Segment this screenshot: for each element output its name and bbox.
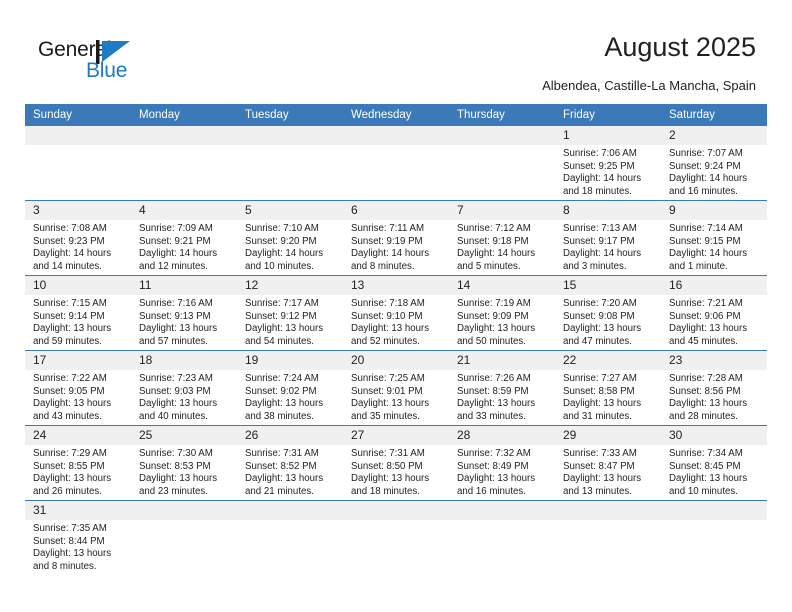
day-number-empty xyxy=(131,501,237,520)
day-number-empty xyxy=(449,126,555,145)
daylight-text: Daylight: 13 hours xyxy=(245,323,337,336)
day-cell[interactable]: Sunrise: 7:15 AMSunset: 9:14 PMDaylight:… xyxy=(25,295,131,350)
day-cell[interactable]: Sunrise: 7:09 AMSunset: 9:21 PMDaylight:… xyxy=(131,220,237,275)
weekday-header-friday: Friday xyxy=(555,104,661,126)
day-cell[interactable]: Sunrise: 7:24 AMSunset: 9:02 PMDaylight:… xyxy=(237,370,343,425)
daylight-text-cont: and 59 minutes. xyxy=(33,336,125,349)
day-cell-empty xyxy=(555,520,661,592)
calendar-week-row: 3456789Sunrise: 7:08 AMSunset: 9:23 PMDa… xyxy=(25,200,767,275)
day-number[interactable]: 31 xyxy=(25,501,131,520)
day-cell[interactable]: Sunrise: 7:06 AMSunset: 9:25 PMDaylight:… xyxy=(555,145,661,200)
day-number[interactable]: 6 xyxy=(343,201,449,220)
weekday-header-row: Sunday Monday Tuesday Wednesday Thursday… xyxy=(25,104,767,126)
sunrise-text: Sunrise: 7:21 AM xyxy=(669,298,761,311)
sunrise-text: Sunrise: 7:31 AM xyxy=(351,448,443,461)
day-cell-empty xyxy=(449,520,555,592)
week-detail-band: Sunrise: 7:29 AMSunset: 8:55 PMDaylight:… xyxy=(25,445,767,500)
sunset-text: Sunset: 8:59 PM xyxy=(457,386,549,399)
sunset-text: Sunset: 9:10 PM xyxy=(351,311,443,324)
day-number[interactable]: 13 xyxy=(343,276,449,295)
day-number[interactable]: 20 xyxy=(343,351,449,370)
sunset-text: Sunset: 9:17 PM xyxy=(563,236,655,249)
day-cell[interactable]: Sunrise: 7:34 AMSunset: 8:45 PMDaylight:… xyxy=(661,445,767,500)
sunset-text: Sunset: 8:55 PM xyxy=(33,461,125,474)
daylight-text: Daylight: 14 hours xyxy=(245,248,337,261)
day-cell-empty xyxy=(237,145,343,200)
sunrise-text: Sunrise: 7:24 AM xyxy=(245,373,337,386)
week-daynumber-band: 31 xyxy=(25,501,767,520)
weekday-header-tuesday: Tuesday xyxy=(237,104,343,126)
daylight-text-cont: and 8 minutes. xyxy=(33,561,125,574)
sunset-text: Sunset: 8:50 PM xyxy=(351,461,443,474)
daylight-text: Daylight: 13 hours xyxy=(139,323,231,336)
sunset-text: Sunset: 9:15 PM xyxy=(669,236,761,249)
day-number[interactable]: 2 xyxy=(661,126,767,145)
daylight-text-cont: and 10 minutes. xyxy=(245,261,337,274)
day-number[interactable]: 19 xyxy=(237,351,343,370)
sunrise-text: Sunrise: 7:18 AM xyxy=(351,298,443,311)
day-number[interactable]: 12 xyxy=(237,276,343,295)
day-number[interactable]: 3 xyxy=(25,201,131,220)
day-cell[interactable]: Sunrise: 7:31 AMSunset: 8:52 PMDaylight:… xyxy=(237,445,343,500)
day-cell[interactable]: Sunrise: 7:27 AMSunset: 8:58 PMDaylight:… xyxy=(555,370,661,425)
sunset-text: Sunset: 8:52 PM xyxy=(245,461,337,474)
day-number[interactable]: 17 xyxy=(25,351,131,370)
day-number[interactable]: 5 xyxy=(237,201,343,220)
sunset-text: Sunset: 9:21 PM xyxy=(139,236,231,249)
sunrise-text: Sunrise: 7:28 AM xyxy=(669,373,761,386)
sunset-text: Sunset: 8:49 PM xyxy=(457,461,549,474)
day-number[interactable]: 4 xyxy=(131,201,237,220)
day-number-empty xyxy=(555,501,661,520)
sunrise-text: Sunrise: 7:22 AM xyxy=(33,373,125,386)
weekday-header-monday: Monday xyxy=(131,104,237,126)
calendar-week-row: 10111213141516Sunrise: 7:15 AMSunset: 9:… xyxy=(25,275,767,350)
daylight-text: Daylight: 13 hours xyxy=(33,473,125,486)
daylight-text-cont: and 35 minutes. xyxy=(351,411,443,424)
daylight-text: Daylight: 13 hours xyxy=(245,398,337,411)
sunset-text: Sunset: 8:53 PM xyxy=(139,461,231,474)
sunrise-text: Sunrise: 7:23 AM xyxy=(139,373,231,386)
daylight-text-cont: and 40 minutes. xyxy=(139,411,231,424)
sunrise-text: Sunrise: 7:08 AM xyxy=(33,223,125,236)
day-cell-empty xyxy=(661,520,767,592)
day-number[interactable]: 23 xyxy=(661,351,767,370)
daylight-text: Daylight: 13 hours xyxy=(139,398,231,411)
sunset-text: Sunset: 9:06 PM xyxy=(669,311,761,324)
daylight-text: Daylight: 14 hours xyxy=(669,248,761,261)
day-cell[interactable]: Sunrise: 7:07 AMSunset: 9:24 PMDaylight:… xyxy=(661,145,767,200)
day-number-empty xyxy=(661,501,767,520)
calendar-weeks: 12Sunrise: 7:06 AMSunset: 9:25 PMDayligh… xyxy=(25,126,767,592)
daylight-text-cont: and 8 minutes. xyxy=(351,261,443,274)
day-cell[interactable]: Sunrise: 7:30 AMSunset: 8:53 PMDaylight:… xyxy=(131,445,237,500)
sunrise-text: Sunrise: 7:31 AM xyxy=(245,448,337,461)
day-number[interactable]: 24 xyxy=(25,426,131,445)
sunrise-text: Sunrise: 7:14 AM xyxy=(669,223,761,236)
day-cell[interactable]: Sunrise: 7:26 AMSunset: 8:59 PMDaylight:… xyxy=(449,370,555,425)
daylight-text: Daylight: 14 hours xyxy=(563,173,655,186)
day-number[interactable]: 28 xyxy=(449,426,555,445)
daylight-text: Daylight: 13 hours xyxy=(669,473,761,486)
daylight-text: Daylight: 13 hours xyxy=(669,323,761,336)
sunset-text: Sunset: 9:02 PM xyxy=(245,386,337,399)
sunrise-text: Sunrise: 7:10 AM xyxy=(245,223,337,236)
daylight-text: Daylight: 13 hours xyxy=(33,398,125,411)
daylight-text-cont: and 31 minutes. xyxy=(563,411,655,424)
logo-word-blue: Blue xyxy=(86,59,127,83)
day-number[interactable]: 1 xyxy=(555,126,661,145)
daylight-text: Daylight: 13 hours xyxy=(563,473,655,486)
day-cell[interactable]: Sunrise: 7:22 AMSunset: 9:05 PMDaylight:… xyxy=(25,370,131,425)
sunset-text: Sunset: 9:20 PM xyxy=(245,236,337,249)
day-cell[interactable]: Sunrise: 7:20 AMSunset: 9:08 PMDaylight:… xyxy=(555,295,661,350)
daylight-text-cont: and 38 minutes. xyxy=(245,411,337,424)
sunrise-text: Sunrise: 7:26 AM xyxy=(457,373,549,386)
day-cell[interactable]: Sunrise: 7:19 AMSunset: 9:09 PMDaylight:… xyxy=(449,295,555,350)
week-detail-band: Sunrise: 7:35 AMSunset: 8:44 PMDaylight:… xyxy=(25,520,767,592)
day-cell-empty xyxy=(237,520,343,592)
daylight-text: Daylight: 14 hours xyxy=(669,173,761,186)
daylight-text: Daylight: 13 hours xyxy=(457,473,549,486)
day-cell[interactable]: Sunrise: 7:13 AMSunset: 9:17 PMDaylight:… xyxy=(555,220,661,275)
daylight-text-cont: and 18 minutes. xyxy=(563,186,655,199)
daylight-text-cont: and 16 minutes. xyxy=(669,186,761,199)
day-cell[interactable]: Sunrise: 7:28 AMSunset: 8:56 PMDaylight:… xyxy=(661,370,767,425)
daylight-text-cont: and 45 minutes. xyxy=(669,336,761,349)
week-daynumber-band: 12 xyxy=(25,126,767,145)
page-header: General Blue August 2025 Albendea, Casti… xyxy=(0,0,792,100)
day-number[interactable]: 15 xyxy=(555,276,661,295)
day-cell[interactable]: Sunrise: 7:14 AMSunset: 9:15 PMDaylight:… xyxy=(661,220,767,275)
daylight-text-cont: and 13 minutes. xyxy=(563,486,655,499)
sunset-text: Sunset: 9:09 PM xyxy=(457,311,549,324)
day-cell[interactable]: Sunrise: 7:12 AMSunset: 9:18 PMDaylight:… xyxy=(449,220,555,275)
calendar-week-row: 17181920212223Sunrise: 7:22 AMSunset: 9:… xyxy=(25,350,767,425)
day-number[interactable]: 25 xyxy=(131,426,237,445)
sunrise-text: Sunrise: 7:07 AM xyxy=(669,148,761,161)
sunrise-text: Sunrise: 7:11 AM xyxy=(351,223,443,236)
day-cell[interactable]: Sunrise: 7:23 AMSunset: 9:03 PMDaylight:… xyxy=(131,370,237,425)
daylight-text-cont: and 12 minutes. xyxy=(139,261,231,274)
daylight-text-cont: and 18 minutes. xyxy=(351,486,443,499)
daylight-text: Daylight: 13 hours xyxy=(669,398,761,411)
day-number[interactable]: 16 xyxy=(661,276,767,295)
sunrise-text: Sunrise: 7:35 AM xyxy=(33,523,125,536)
sunset-text: Sunset: 9:05 PM xyxy=(33,386,125,399)
sunset-text: Sunset: 8:58 PM xyxy=(563,386,655,399)
calendar-page: General Blue August 2025 Albendea, Casti… xyxy=(0,0,792,612)
day-cell[interactable]: Sunrise: 7:16 AMSunset: 9:13 PMDaylight:… xyxy=(131,295,237,350)
sunset-text: Sunset: 9:14 PM xyxy=(33,311,125,324)
sunset-text: Sunset: 9:08 PM xyxy=(563,311,655,324)
day-number[interactable]: 14 xyxy=(449,276,555,295)
weekday-header-saturday: Saturday xyxy=(661,104,767,126)
day-number-empty xyxy=(237,126,343,145)
daylight-text: Daylight: 13 hours xyxy=(351,473,443,486)
daylight-text: Daylight: 13 hours xyxy=(351,323,443,336)
daylight-text-cont: and 28 minutes. xyxy=(669,411,761,424)
day-number-empty xyxy=(131,126,237,145)
calendar-grid: Sunday Monday Tuesday Wednesday Thursday… xyxy=(25,104,767,592)
sunrise-text: Sunrise: 7:19 AM xyxy=(457,298,549,311)
daylight-text: Daylight: 13 hours xyxy=(563,323,655,336)
page-subtitle-location: Albendea, Castille-La Mancha, Spain xyxy=(542,78,756,93)
day-number[interactable]: 7 xyxy=(449,201,555,220)
sunrise-text: Sunrise: 7:16 AM xyxy=(139,298,231,311)
day-cell[interactable]: Sunrise: 7:25 AMSunset: 9:01 PMDaylight:… xyxy=(343,370,449,425)
calendar-week-row: 31Sunrise: 7:35 AMSunset: 8:44 PMDayligh… xyxy=(25,500,767,592)
sunrise-text: Sunrise: 7:15 AM xyxy=(33,298,125,311)
sunset-text: Sunset: 9:18 PM xyxy=(457,236,549,249)
page-title: August 2025 xyxy=(604,32,756,63)
sunset-text: Sunset: 9:23 PM xyxy=(33,236,125,249)
day-cell[interactable]: Sunrise: 7:32 AMSunset: 8:49 PMDaylight:… xyxy=(449,445,555,500)
sunset-text: Sunset: 9:13 PM xyxy=(139,311,231,324)
daylight-text-cont: and 16 minutes. xyxy=(457,486,549,499)
day-number[interactable]: 9 xyxy=(661,201,767,220)
day-number-empty xyxy=(25,126,131,145)
sunrise-text: Sunrise: 7:25 AM xyxy=(351,373,443,386)
sunrise-text: Sunrise: 7:12 AM xyxy=(457,223,549,236)
day-cell[interactable]: Sunrise: 7:11 AMSunset: 9:19 PMDaylight:… xyxy=(343,220,449,275)
day-cell[interactable]: Sunrise: 7:10 AMSunset: 9:20 PMDaylight:… xyxy=(237,220,343,275)
calendar-week-row: 12Sunrise: 7:06 AMSunset: 9:25 PMDayligh… xyxy=(25,126,767,200)
day-number[interactable]: 21 xyxy=(449,351,555,370)
day-cell-empty xyxy=(131,145,237,200)
sunrise-text: Sunrise: 7:32 AM xyxy=(457,448,549,461)
weekday-header-thursday: Thursday xyxy=(449,104,555,126)
calendar-week-row: 24252627282930Sunrise: 7:29 AMSunset: 8:… xyxy=(25,425,767,500)
week-daynumber-band: 3456789 xyxy=(25,201,767,220)
daylight-text-cont: and 52 minutes. xyxy=(351,336,443,349)
daylight-text-cont: and 5 minutes. xyxy=(457,261,549,274)
sunrise-text: Sunrise: 7:17 AM xyxy=(245,298,337,311)
sunset-text: Sunset: 9:25 PM xyxy=(563,161,655,174)
week-detail-band: Sunrise: 7:08 AMSunset: 9:23 PMDaylight:… xyxy=(25,220,767,275)
day-cell[interactable]: Sunrise: 7:18 AMSunset: 9:10 PMDaylight:… xyxy=(343,295,449,350)
daylight-text-cont: and 1 minute. xyxy=(669,261,761,274)
sunset-text: Sunset: 8:56 PM xyxy=(669,386,761,399)
day-cell[interactable]: Sunrise: 7:33 AMSunset: 8:47 PMDaylight:… xyxy=(555,445,661,500)
daylight-text-cont: and 21 minutes. xyxy=(245,486,337,499)
day-cell[interactable]: Sunrise: 7:17 AMSunset: 9:12 PMDaylight:… xyxy=(237,295,343,350)
day-cell-empty xyxy=(25,145,131,200)
day-number[interactable]: 8 xyxy=(555,201,661,220)
sunset-text: Sunset: 8:47 PM xyxy=(563,461,655,474)
daylight-text-cont: and 10 minutes. xyxy=(669,486,761,499)
daylight-text: Daylight: 14 hours xyxy=(139,248,231,261)
sunrise-text: Sunrise: 7:20 AM xyxy=(563,298,655,311)
daylight-text: Daylight: 14 hours xyxy=(351,248,443,261)
sunset-text: Sunset: 9:24 PM xyxy=(669,161,761,174)
day-cell-empty xyxy=(449,145,555,200)
sunrise-text: Sunrise: 7:09 AM xyxy=(139,223,231,236)
daylight-text: Daylight: 13 hours xyxy=(563,398,655,411)
daylight-text-cont: and 23 minutes. xyxy=(139,486,231,499)
weekday-header-sunday: Sunday xyxy=(25,104,131,126)
sunset-text: Sunset: 8:45 PM xyxy=(669,461,761,474)
day-number[interactable]: 30 xyxy=(661,426,767,445)
day-cell-empty xyxy=(343,145,449,200)
daylight-text: Daylight: 13 hours xyxy=(457,398,549,411)
day-cell-empty xyxy=(343,520,449,592)
day-number-empty xyxy=(449,501,555,520)
day-number[interactable]: 10 xyxy=(25,276,131,295)
daylight-text-cont: and 47 minutes. xyxy=(563,336,655,349)
sunrise-text: Sunrise: 7:29 AM xyxy=(33,448,125,461)
day-number[interactable]: 22 xyxy=(555,351,661,370)
daylight-text: Daylight: 13 hours xyxy=(245,473,337,486)
day-number[interactable]: 18 xyxy=(131,351,237,370)
day-cell[interactable]: Sunrise: 7:31 AMSunset: 8:50 PMDaylight:… xyxy=(343,445,449,500)
day-cell-empty xyxy=(131,520,237,592)
week-detail-band: Sunrise: 7:15 AMSunset: 9:14 PMDaylight:… xyxy=(25,295,767,350)
sunrise-text: Sunrise: 7:13 AM xyxy=(563,223,655,236)
daylight-text: Daylight: 13 hours xyxy=(351,398,443,411)
daylight-text-cont: and 14 minutes. xyxy=(33,261,125,274)
daylight-text-cont: and 26 minutes. xyxy=(33,486,125,499)
week-daynumber-band: 10111213141516 xyxy=(25,276,767,295)
sunrise-text: Sunrise: 7:06 AM xyxy=(563,148,655,161)
sunrise-text: Sunrise: 7:27 AM xyxy=(563,373,655,386)
weekday-header-wednesday: Wednesday xyxy=(343,104,449,126)
day-number[interactable]: 27 xyxy=(343,426,449,445)
daylight-text-cont: and 50 minutes. xyxy=(457,336,549,349)
day-number[interactable]: 11 xyxy=(131,276,237,295)
daylight-text: Daylight: 13 hours xyxy=(139,473,231,486)
general-blue-logo[interactable]: General Blue xyxy=(38,38,168,86)
sunset-text: Sunset: 8:44 PM xyxy=(33,536,125,549)
daylight-text: Daylight: 14 hours xyxy=(457,248,549,261)
daylight-text-cont: and 43 minutes. xyxy=(33,411,125,424)
week-daynumber-band: 17181920212223 xyxy=(25,351,767,370)
daylight-text-cont: and 57 minutes. xyxy=(139,336,231,349)
daylight-text: Daylight: 13 hours xyxy=(33,548,125,561)
daylight-text-cont: and 3 minutes. xyxy=(563,261,655,274)
sunrise-text: Sunrise: 7:34 AM xyxy=(669,448,761,461)
sunset-text: Sunset: 9:03 PM xyxy=(139,386,231,399)
sunrise-text: Sunrise: 7:30 AM xyxy=(139,448,231,461)
week-detail-band: Sunrise: 7:22 AMSunset: 9:05 PMDaylight:… xyxy=(25,370,767,425)
sunset-text: Sunset: 9:01 PM xyxy=(351,386,443,399)
day-number-empty xyxy=(237,501,343,520)
day-number-empty xyxy=(343,126,449,145)
sunrise-text: Sunrise: 7:33 AM xyxy=(563,448,655,461)
daylight-text: Daylight: 14 hours xyxy=(563,248,655,261)
day-number-empty xyxy=(343,501,449,520)
daylight-text-cont: and 54 minutes. xyxy=(245,336,337,349)
daylight-text-cont: and 33 minutes. xyxy=(457,411,549,424)
sunset-text: Sunset: 9:19 PM xyxy=(351,236,443,249)
day-cell[interactable]: Sunrise: 7:29 AMSunset: 8:55 PMDaylight:… xyxy=(25,445,131,500)
day-number[interactable]: 26 xyxy=(237,426,343,445)
week-daynumber-band: 24252627282930 xyxy=(25,426,767,445)
day-cell[interactable]: Sunrise: 7:08 AMSunset: 9:23 PMDaylight:… xyxy=(25,220,131,275)
sunset-text: Sunset: 9:12 PM xyxy=(245,311,337,324)
day-cell[interactable]: Sunrise: 7:21 AMSunset: 9:06 PMDaylight:… xyxy=(661,295,767,350)
daylight-text: Daylight: 13 hours xyxy=(33,323,125,336)
day-cell[interactable]: Sunrise: 7:35 AMSunset: 8:44 PMDaylight:… xyxy=(25,520,131,592)
week-detail-band: Sunrise: 7:06 AMSunset: 9:25 PMDaylight:… xyxy=(25,145,767,200)
day-number[interactable]: 29 xyxy=(555,426,661,445)
daylight-text: Daylight: 14 hours xyxy=(33,248,125,261)
daylight-text: Daylight: 13 hours xyxy=(457,323,549,336)
